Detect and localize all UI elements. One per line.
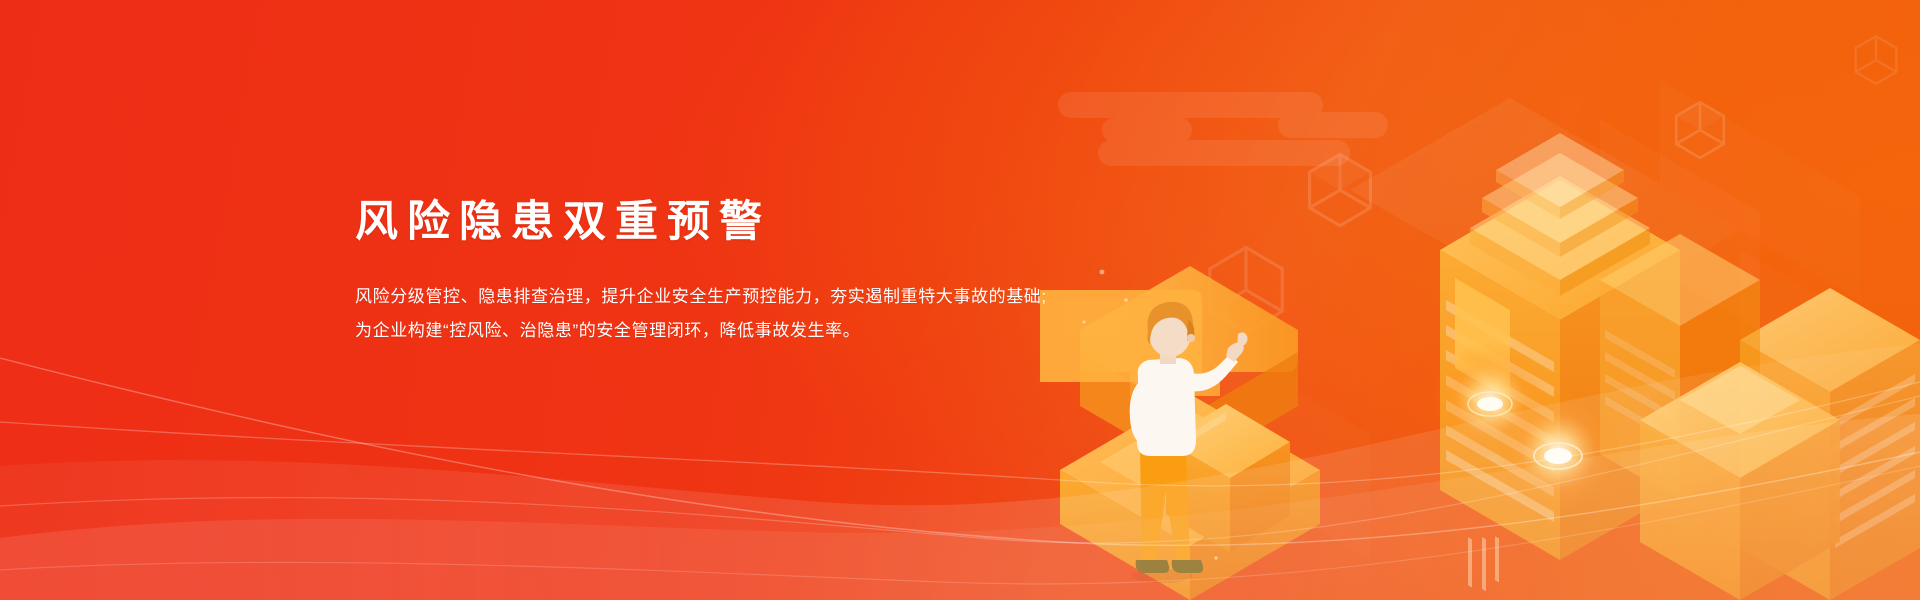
banner-subtitle: 风险分级管控、隐患排查治理，提升企业安全生产预控能力，夯实遏制重特大事故的基础;… bbox=[355, 247, 1075, 348]
banner-copy: 风险隐患双重预警 风险分级管控、隐患排查治理，提升企业安全生产预控能力，夯实遏制… bbox=[355, 198, 1075, 348]
page-title: 风险隐患双重预警 bbox=[355, 198, 1075, 247]
hero-banner: 风险隐患双重预警 风险分级管控、隐患排查治理，提升企业安全生产预控能力，夯实遏制… bbox=[0, 0, 1920, 600]
subtitle-line-1: 风险分级管控、隐患排查治理，提升企业安全生产预控能力，夯实遏制重特大事故的基础; bbox=[355, 280, 1075, 314]
hexagon-cube-icon-d bbox=[1856, 36, 1897, 84]
subtitle-line-2: 为企业构建“控风险、治隐患”的安全管理闭环，降低事故发生率。 bbox=[355, 314, 1075, 348]
